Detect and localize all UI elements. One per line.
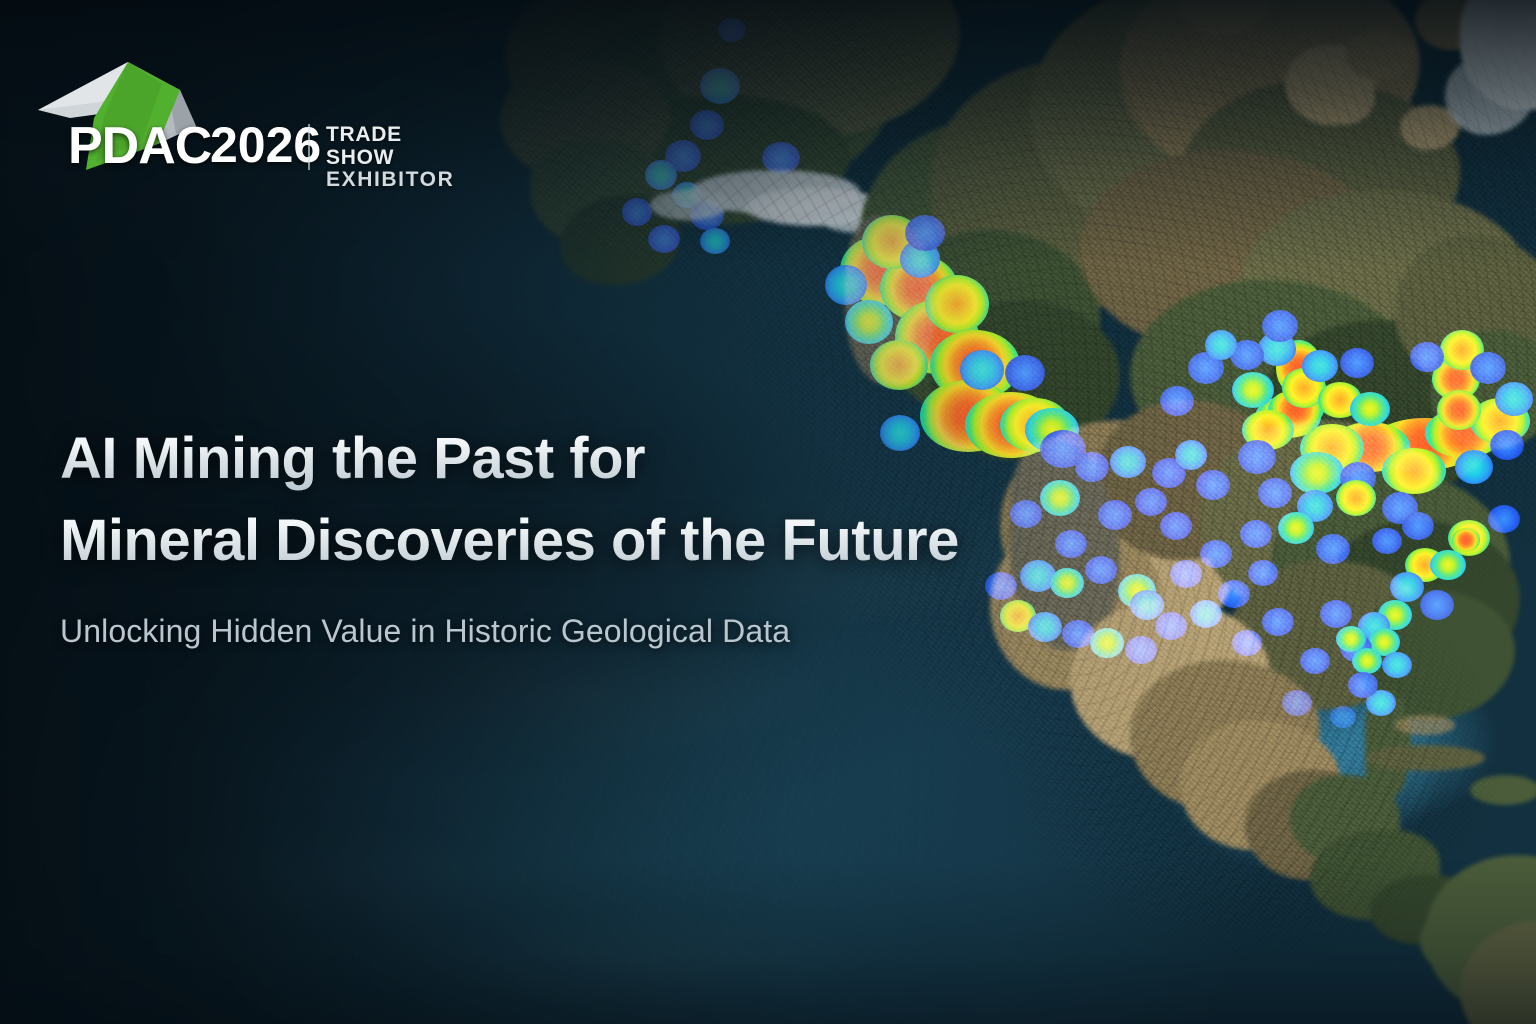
logo-divider [308, 124, 310, 170]
logo-badge-line-2: EXHIBITOR [326, 169, 454, 192]
title-slide: PDAC 2026 TRADE SHOW EXHIBITOR AI Mining… [0, 0, 1536, 1024]
logo-wordmark: PDAC [68, 120, 211, 172]
pdac-exhibitor-logo[interactable]: PDAC 2026 TRADE SHOW EXHIBITOR [30, 44, 450, 164]
hero-copy-block: AI Mining the Past for Mineral Discoveri… [60, 418, 1120, 650]
logo-year: 2026 [210, 120, 321, 170]
logo-badge: TRADE SHOW EXHIBITOR [326, 124, 454, 192]
logo-badge-line-1: TRADE SHOW [326, 124, 454, 169]
hero-subtitle: Unlocking Hidden Value in Historic Geolo… [60, 613, 1120, 650]
hero-title-line-2: Mineral Discoveries of the Future [60, 500, 1120, 582]
hero-title-line-1: AI Mining the Past for [60, 418, 1120, 500]
